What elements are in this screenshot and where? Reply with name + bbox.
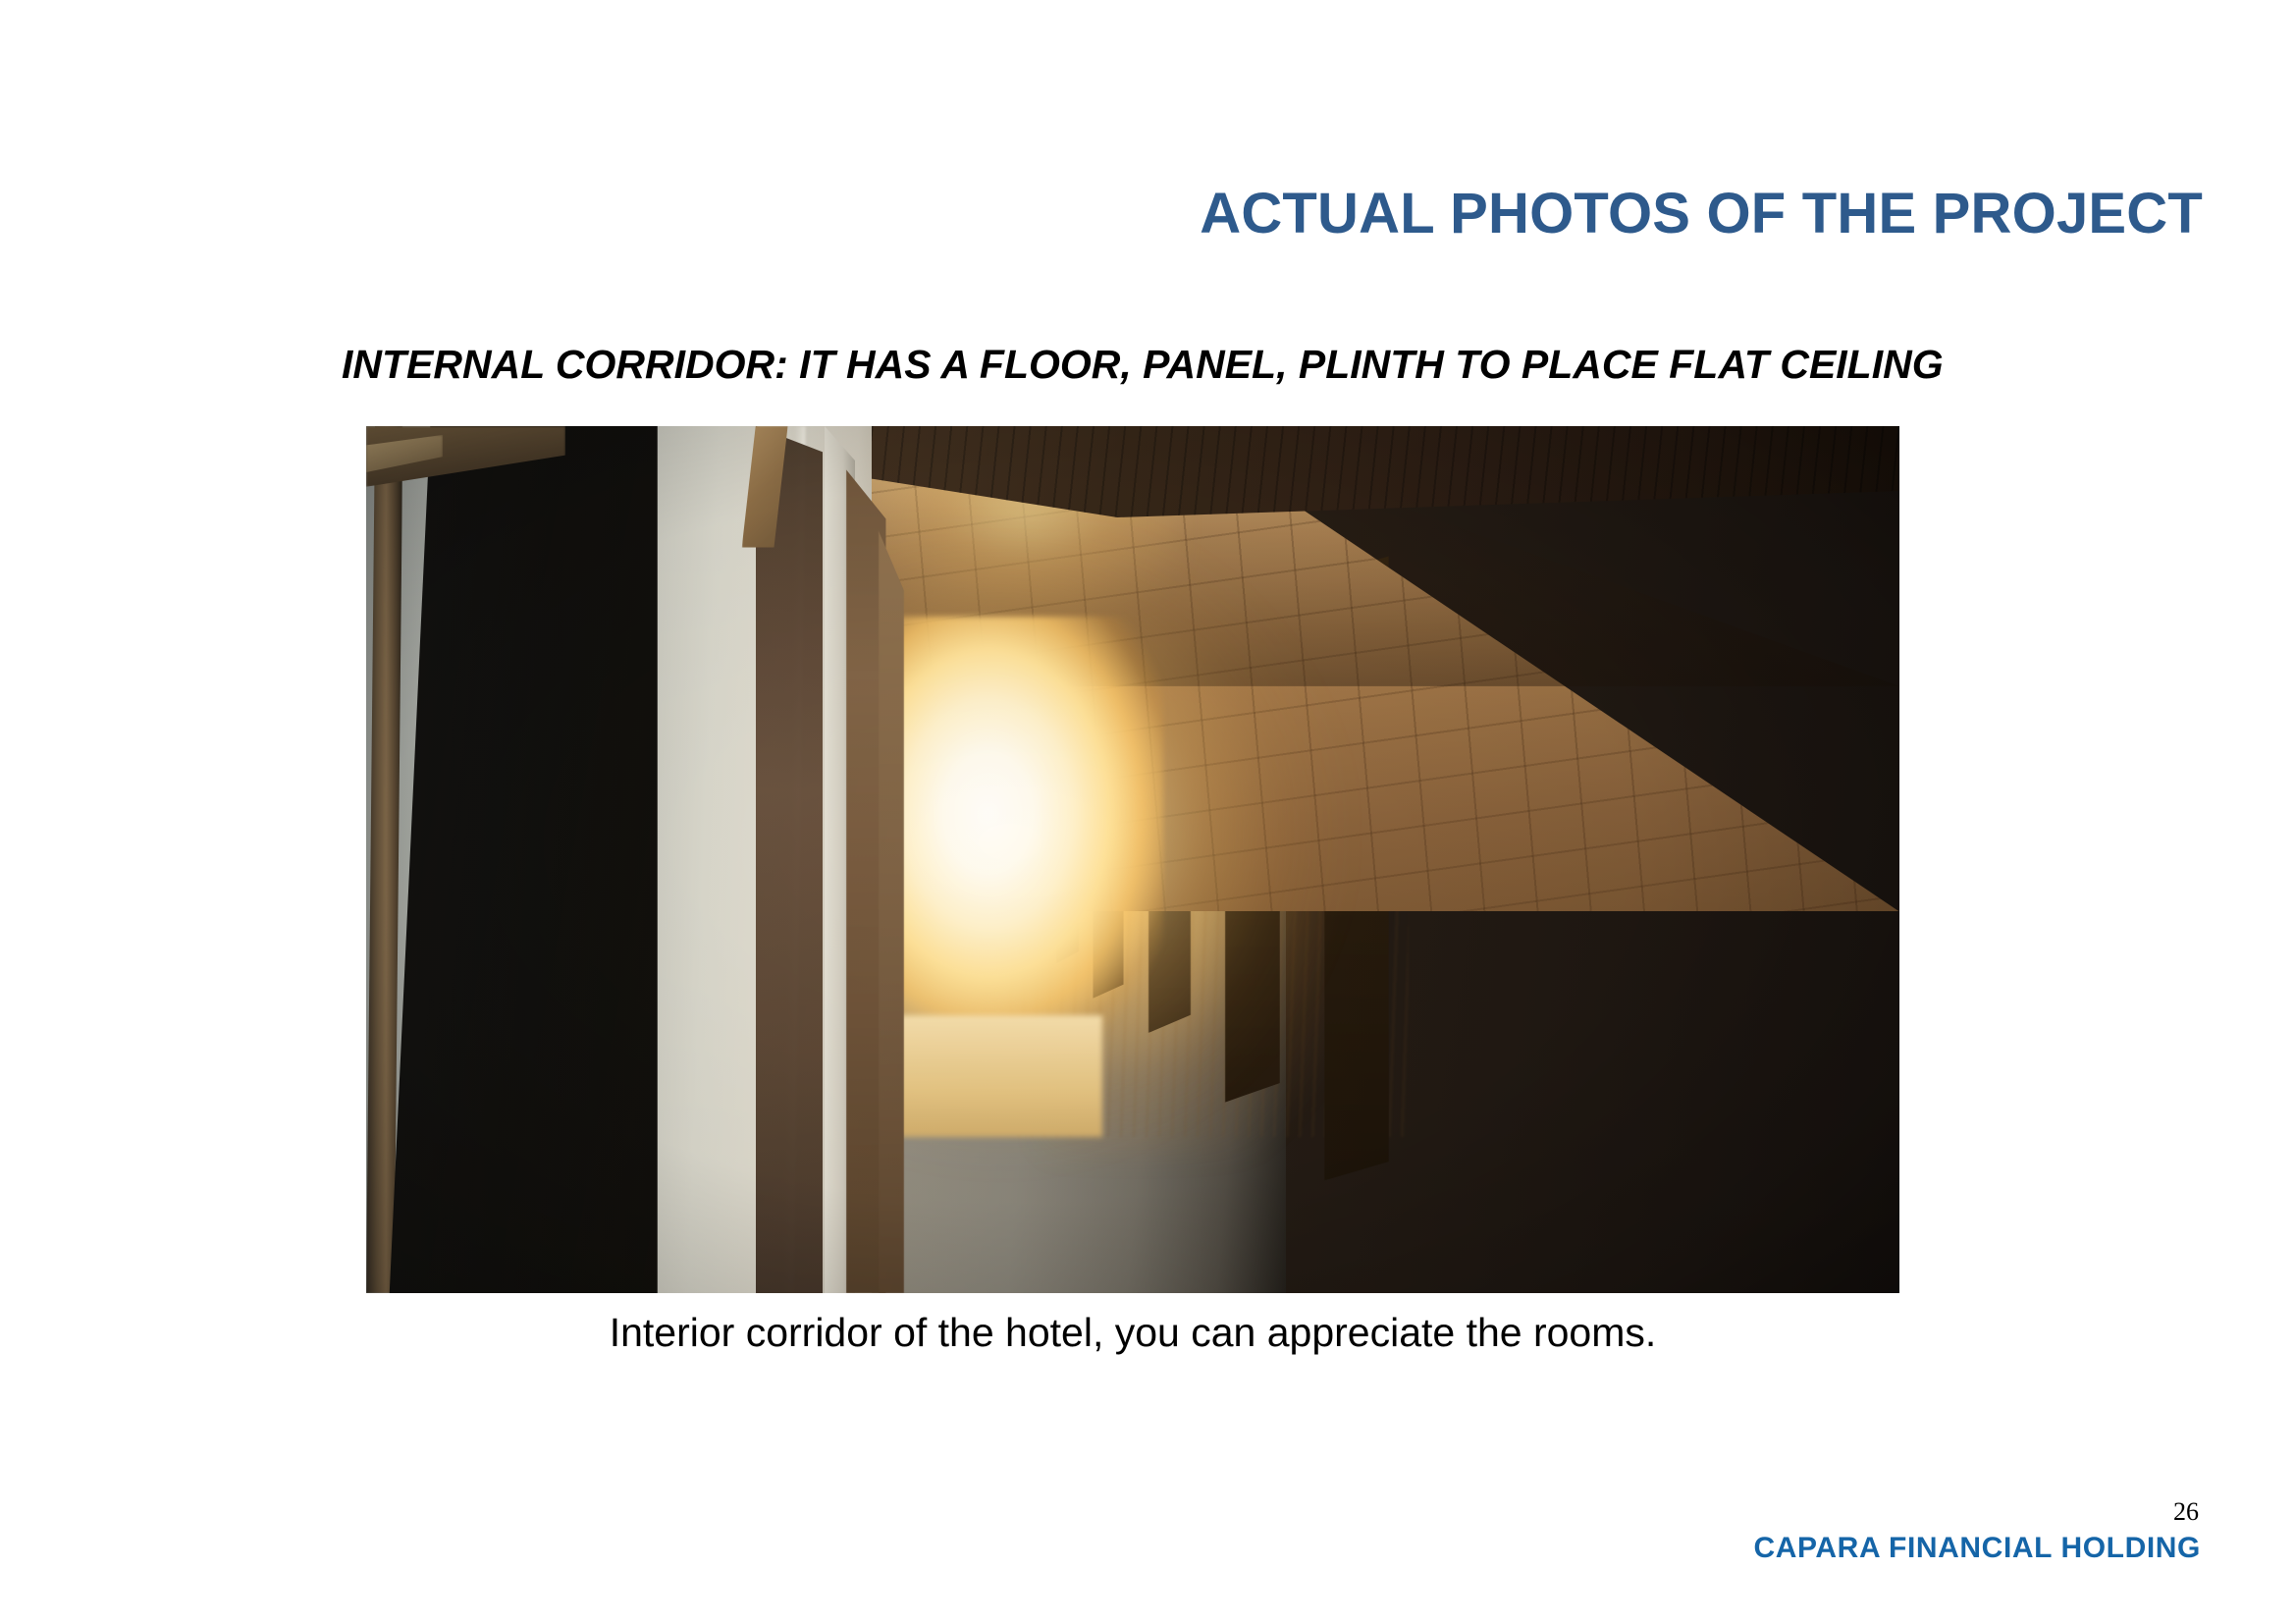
- page-number: 26: [2173, 1499, 2199, 1525]
- page-title: ACTUAL PHOTOS OF THE PROJECT: [1200, 183, 2203, 245]
- photo-left-jamb: [756, 426, 824, 1293]
- slide-subtitle: INTERNAL CORRIDOR: IT HAS A FLOOR, PANEL…: [342, 342, 1944, 388]
- corridor-photo: [366, 426, 1899, 1293]
- slide: ACTUAL PHOTOS OF THE PROJECT INTERNAL CO…: [0, 0, 2296, 1624]
- photo-far-floor: [872, 1015, 1101, 1137]
- photo-left-door-2: [879, 530, 905, 1293]
- footer-company-name: CAPARA FINANCIAL HOLDING: [1754, 1532, 2202, 1564]
- photo-caption: Interior corridor of the hotel, you can …: [366, 1309, 1899, 1357]
